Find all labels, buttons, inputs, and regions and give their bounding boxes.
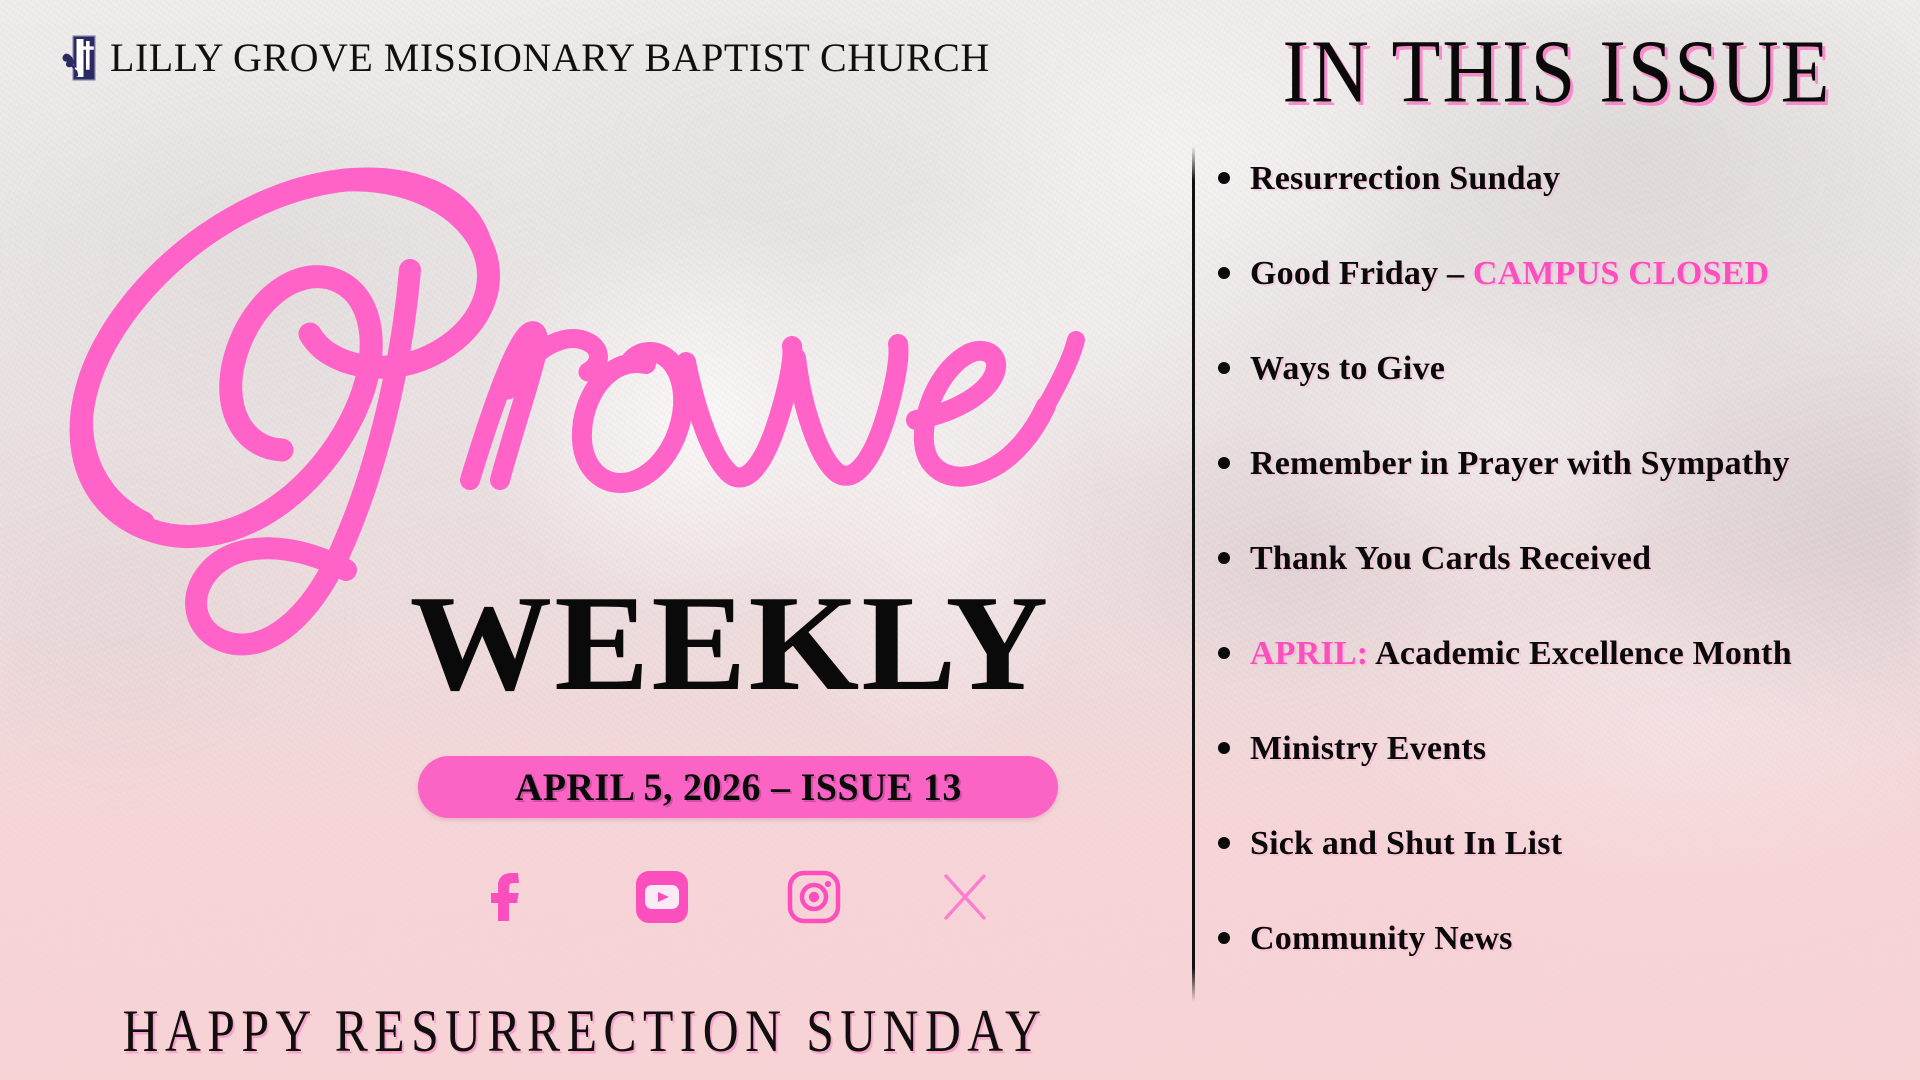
list-item-label: Ways to Give — [1250, 350, 1445, 388]
social-links — [418, 855, 1058, 939]
newsletter-cover: LILLY GROVE MISSIONARY BAPTIST CHURCH — [0, 0, 1920, 1080]
date-issue-label: APRIL 5, 2026 – ISSUE 13 — [514, 765, 961, 810]
facebook-icon[interactable] — [482, 869, 538, 925]
list-item[interactable]: Thank You Cards Received — [1218, 540, 1918, 635]
list-item-label: Ministry Events — [1250, 730, 1486, 768]
list-item-label: Resurrection Sunday — [1250, 160, 1560, 198]
list-item-label: Sick and Shut In List — [1250, 825, 1562, 863]
list-item-label: Good Friday – CAMPUS CLOSED — [1250, 255, 1769, 293]
tagline: HAPPY RESURRECTION SUNDAY — [47, 996, 1123, 1065]
list-item[interactable]: APRIL: Academic Excellence Month — [1218, 635, 1918, 730]
church-name: LILLY GROVE MISSIONARY BAPTIST CHURCH — [110, 34, 990, 81]
list-item[interactable]: Sick and Shut In List — [1218, 825, 1918, 920]
list-item-label: Remember in Prayer with Sympathy — [1250, 445, 1790, 483]
weekly-title: WEEKLY — [366, 575, 1094, 712]
bullet-icon — [1218, 172, 1230, 184]
grove-script-wordmark — [10, 150, 1150, 620]
list-item[interactable]: Community News — [1218, 920, 1918, 1015]
youtube-icon[interactable] — [634, 869, 690, 925]
bullet-icon — [1218, 552, 1230, 564]
masthead: LILLY GROVE MISSIONARY BAPTIST CHURCH — [62, 34, 990, 81]
bullet-icon — [1218, 362, 1230, 374]
list-item[interactable]: Good Friday – CAMPUS CLOSED — [1218, 255, 1918, 350]
in-this-issue-heading: IN THIS ISSUE — [1212, 22, 1902, 124]
bullet-icon — [1218, 457, 1230, 469]
highlight-text: CAMPUS CLOSED — [1473, 255, 1769, 292]
date-issue-badge: APRIL 5, 2026 – ISSUE 13 — [418, 756, 1058, 818]
bullet-icon — [1218, 837, 1230, 849]
column-divider — [1192, 146, 1195, 1002]
list-item-label: APRIL: Academic Excellence Month — [1250, 635, 1792, 673]
list-item[interactable]: Ways to Give — [1218, 350, 1918, 445]
list-item-label: Thank You Cards Received — [1250, 540, 1651, 578]
bullet-icon — [1218, 742, 1230, 754]
list-item[interactable]: Ministry Events — [1218, 730, 1918, 825]
bullet-icon — [1218, 267, 1230, 279]
bullet-icon — [1218, 932, 1230, 944]
church-shield-cross-dove-logo-icon — [62, 35, 96, 81]
highlight-text: APRIL: — [1250, 635, 1368, 672]
list-item-label: Community News — [1250, 920, 1513, 958]
instagram-icon[interactable] — [786, 869, 842, 925]
list-item[interactable]: Remember in Prayer with Sympathy — [1218, 445, 1918, 540]
list-item[interactable]: Resurrection Sunday — [1218, 160, 1918, 255]
bullet-icon — [1218, 647, 1230, 659]
table-of-contents: Resurrection SundayGood Friday – CAMPUS … — [1218, 160, 1918, 1015]
x-twitter-icon[interactable] — [938, 869, 994, 925]
